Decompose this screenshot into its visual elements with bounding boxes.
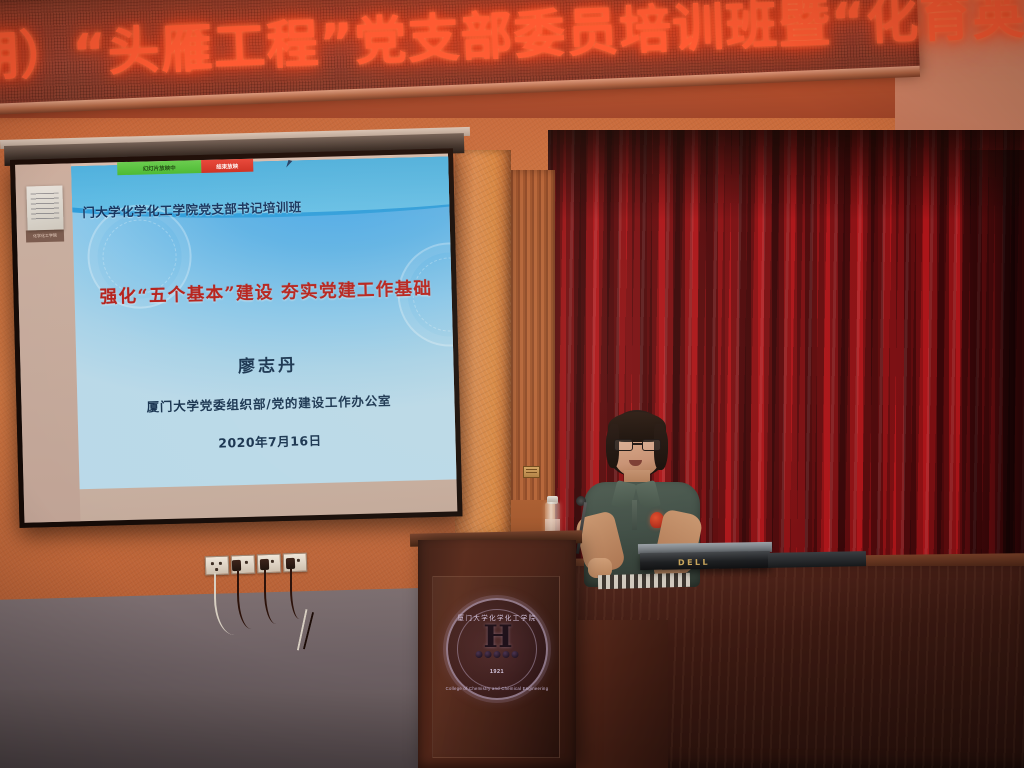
outlet-hole — [271, 560, 274, 563]
emblem-founding-year: 1921 — [490, 669, 504, 675]
slide-affiliation: 厦门大学党委组织部/党的建设工作办公室 — [77, 388, 457, 417]
emblem-dot — [494, 651, 501, 658]
screen-surface: 门大学化学化工学院党支部书记培训班 强化“五个基本”建设 夯实党建工作基础 廖志… — [15, 154, 457, 523]
wall-plaque-lines — [526, 469, 537, 475]
emblem-dot — [503, 651, 510, 658]
outlet-hole — [219, 562, 222, 565]
outlet-hole — [297, 559, 300, 562]
power-plug-1 — [232, 560, 241, 571]
emblem-dot — [512, 651, 519, 658]
conference-hall-photo: 期）“头雁工程”党支部委员培训班暨“化育英才”骨干班 门大学化学化工学院党支部书… — [0, 0, 1024, 768]
wall-plaque — [523, 466, 540, 478]
emblem-dot — [476, 651, 483, 658]
emblem-dot — [485, 651, 492, 658]
dell-logo: DELL — [678, 558, 710, 568]
slide-date: 2020年7月16日 — [78, 426, 457, 455]
end-slideshow-button[interactable]: 结束放映 — [201, 159, 253, 173]
emblem-dot-row — [476, 651, 519, 658]
presenter-glasses — [614, 439, 661, 451]
glasses-lens-right — [642, 439, 661, 451]
emblem-letter-h: H — [483, 619, 510, 655]
presenter-belt — [598, 573, 690, 589]
slideshow-status-button[interactable]: 幻灯片放映中 — [117, 160, 201, 175]
wall-poster — [26, 186, 63, 231]
projection-screen: 门大学化学化工学院党支部书记培训班 强化“五个基本”建设 夯实党建工作基础 廖志… — [10, 148, 462, 527]
podium: 厦门大学化学化工学院 H 1921 College of Chemistry a… — [418, 540, 576, 768]
projected-slide: 门大学化学化工学院党支部书记培训班 强化“五个基本”建设 夯实党建工作基础 廖志… — [71, 156, 457, 489]
college-emblem: 厦门大学化学化工学院 H 1921 College of Chemistry a… — [446, 598, 548, 700]
presenter-shirt-placket — [632, 500, 637, 530]
laptop-right-section — [768, 551, 866, 568]
outlet-hole — [215, 568, 218, 571]
curtain-top-shadow — [548, 130, 1024, 220]
slide-speaker-name: 廖志丹 — [76, 346, 457, 381]
power-cable-3 — [290, 569, 306, 619]
glasses-bridge — [633, 443, 642, 445]
outlet-hole — [211, 562, 214, 565]
wall-poster-caption: 化学化工学院 — [26, 229, 64, 242]
emblem-english-text: College of Chemistry and Chemical Engine… — [446, 686, 549, 691]
power-plug-3 — [286, 558, 295, 569]
wall-poster-text-lines — [31, 193, 60, 220]
glasses-lens-left — [614, 439, 633, 451]
power-plug-2 — [260, 559, 269, 570]
outlet-hole — [245, 561, 248, 564]
